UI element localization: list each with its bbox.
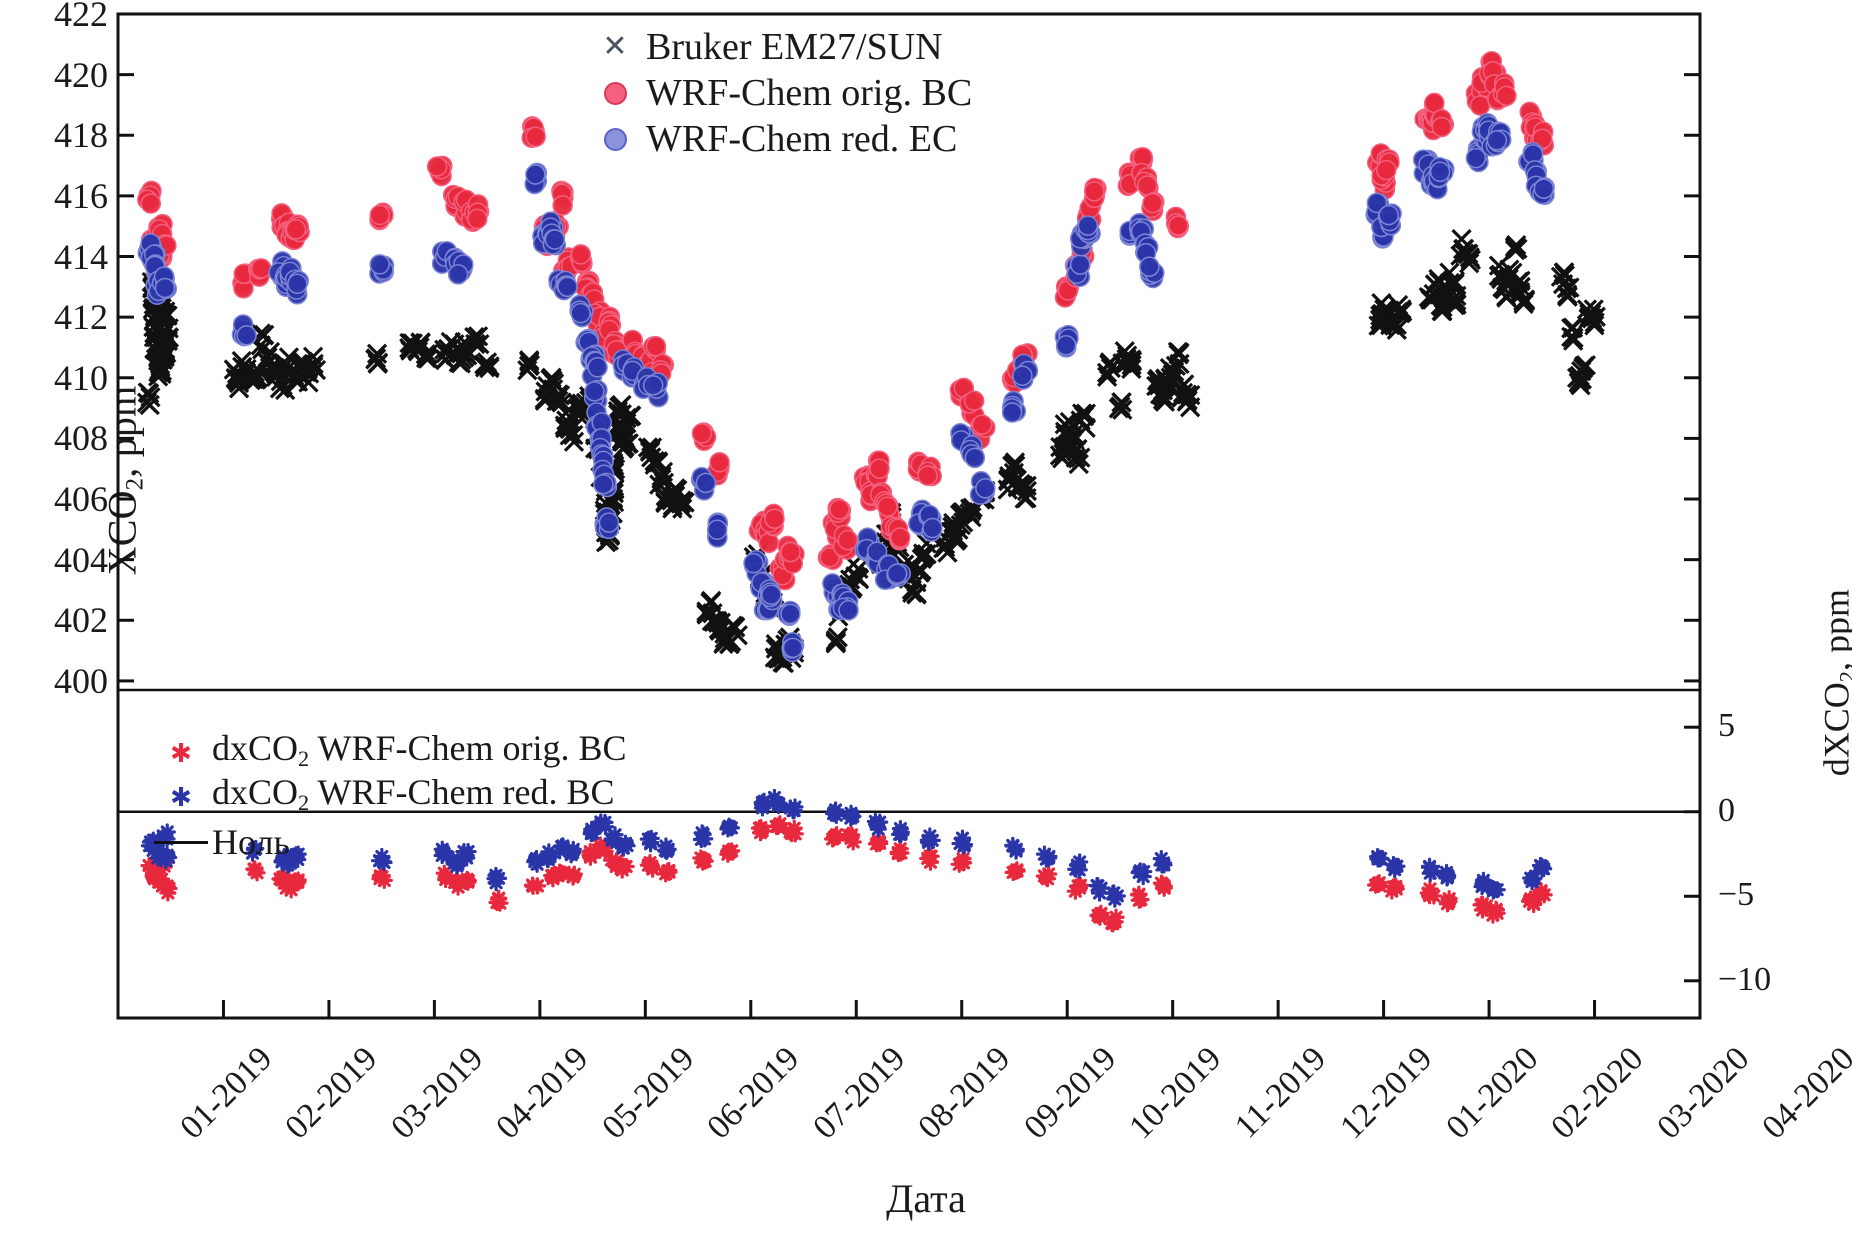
plot-canvas [0, 0, 1852, 1237]
cross-marker-icon: ✕ [584, 32, 646, 62]
series-bruker-em27-sun [138, 230, 1605, 672]
star-marker-icon: ✱ [150, 741, 212, 767]
circle-marker-icon [584, 82, 646, 105]
legend-item-dx-red-bc[interactable]: ✱ dxCO2 WRF-Chem red. BC [150, 776, 627, 820]
legend-label: Bruker EM27/SUN [646, 24, 943, 70]
legend-label: dxCO2 WRF-Chem red. BC [212, 770, 615, 825]
legend-item-bruker[interactable]: ✕ Bruker EM27/SUN [584, 24, 972, 70]
legend-label: WRF-Chem orig. BC [646, 70, 972, 116]
legend-secondary-series: ✱ dxCO2 WRF-Chem orig. BC ✱ dxCO2 WRF-Ch… [150, 732, 627, 864]
legend-main-series: ✕ Bruker EM27/SUN WRF-Chem orig. BC WRF-… [584, 24, 972, 162]
legend-label: Ноль [212, 820, 290, 864]
legend-label: WRF-Chem red. EC [646, 116, 957, 162]
circle-marker-icon [584, 128, 646, 151]
legend-item-zero-line[interactable]: Ноль [150, 820, 627, 864]
legend-item-wrf-orig-bc[interactable]: WRF-Chem orig. BC [584, 70, 972, 116]
legend-item-dx-orig-bc[interactable]: ✱ dxCO2 WRF-Chem orig. BC [150, 732, 627, 776]
star-marker-icon: ✱ [150, 785, 212, 811]
chart-figure: XCO2, ppm dXCO2, ppm Дата 42242041841641… [0, 0, 1852, 1237]
line-marker-icon [150, 841, 212, 844]
legend-item-wrf-red-ec[interactable]: WRF-Chem red. EC [584, 116, 972, 162]
